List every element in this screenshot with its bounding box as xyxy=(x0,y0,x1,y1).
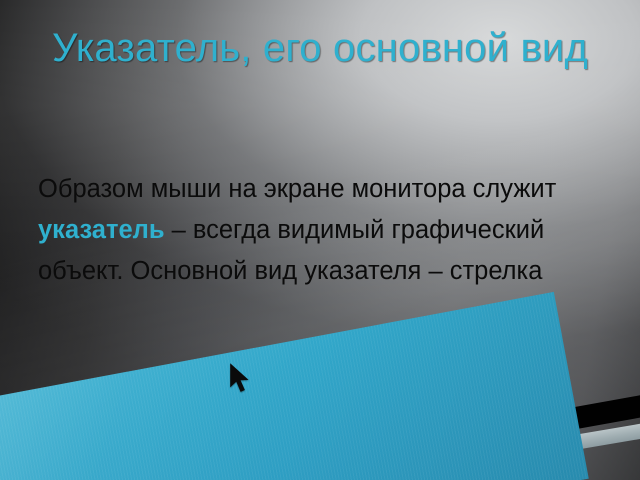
slide-body-text: Образом мыши на экране монитора служит у… xyxy=(38,169,614,292)
presentation-slide: Указатель, его основной вид Образом мыши… xyxy=(0,0,640,480)
decorative-band-teal-sheen xyxy=(0,292,589,480)
body-text-part-1: Образом мыши на экране монитора служит xyxy=(38,175,556,203)
slide-title: Указатель, его основной вид xyxy=(28,24,612,73)
decorative-band-teal xyxy=(0,292,589,480)
decorative-corner-bands xyxy=(0,280,640,480)
body-text-keyword: указатель xyxy=(38,216,165,244)
mouse-pointer-arrow-icon xyxy=(228,362,254,396)
